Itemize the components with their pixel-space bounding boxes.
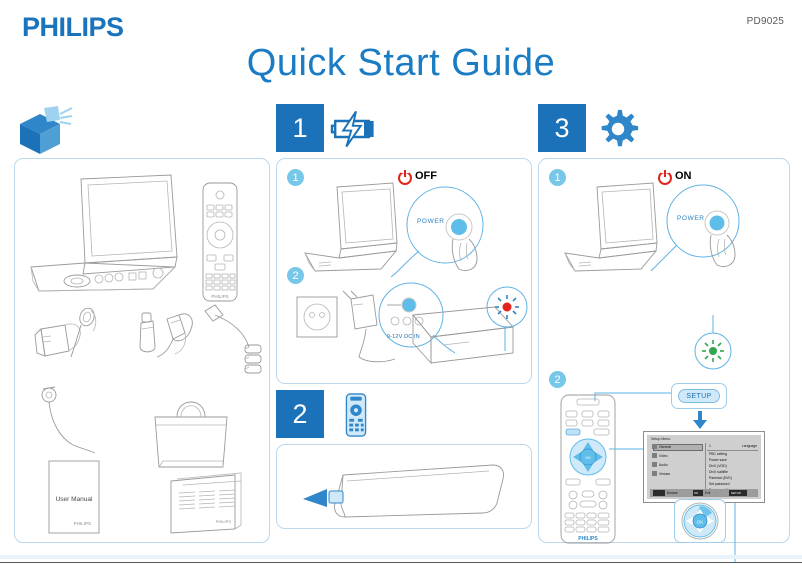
user-manual-label: User Manual [56, 496, 93, 503]
menu-option-divx-subtitle[interactable]: DivX subtitle [709, 470, 728, 474]
menu-icons [652, 444, 659, 484]
power-button-callout-3 [649, 183, 757, 277]
gear-icon [594, 106, 642, 152]
remote-control-icon [332, 392, 380, 438]
column-step-1-2: 1 1 OFF [276, 104, 532, 529]
step-1-panel: 1 OFF [276, 158, 532, 384]
ac-adapter-illustration [31, 299, 107, 377]
step-2-number: 2 [276, 390, 324, 438]
menu-item-video[interactable]: Video [659, 454, 668, 458]
footer-rule [0, 562, 802, 563]
leaflet-illustration: PHILIPS [165, 467, 257, 543]
charging-led-indicator [483, 285, 535, 337]
ok-key-label: OK [694, 491, 698, 495]
power-button-callout-1 [389, 185, 499, 281]
menu-option-set-password[interactable]: Set password [709, 482, 730, 486]
menu-option-parental-dvd[interactable]: Parental (DVD) [709, 476, 732, 480]
substep-badge-3-2: 2 [549, 371, 566, 388]
open-box-icon [14, 104, 76, 154]
power-callout-label-1: POWER [417, 218, 445, 225]
page-title: Quick Start Guide [0, 42, 802, 85]
menu-item-audio[interactable]: Audio [659, 463, 668, 467]
menu-item-general[interactable]: General [659, 445, 671, 449]
substep-badge-1-2: 2 [287, 267, 304, 284]
menu-option-power-save[interactable]: Power save [709, 458, 727, 462]
step-2-panel [276, 444, 532, 529]
menu-divider [705, 443, 706, 489]
box-contents-header [14, 104, 270, 158]
setup-button[interactable]: SETUP [678, 389, 720, 403]
step-3-number: 3 [538, 104, 586, 152]
box-contents-panel: PHILIPS [14, 158, 270, 543]
setup-key-label: SETUP [731, 491, 741, 495]
menu-item-version[interactable]: Version [659, 472, 670, 476]
power-led-indicator [691, 329, 737, 375]
wall-socket-illustration [293, 293, 345, 343]
svg-text:PHILIPS: PHILIPS [74, 521, 91, 526]
menu-right-index: 1 [709, 444, 711, 448]
av-cable-illustration [201, 301, 281, 381]
menu-option-pbc-setting[interactable]: PBC setting [709, 452, 727, 456]
step-1-header: 1 [276, 104, 532, 158]
footer-tint [0, 555, 802, 559]
battery-charging-icon [332, 106, 380, 152]
setup-menu-screen: Setup Menu General Video Audio Version [643, 431, 765, 503]
remote-battery-tab-illustration [297, 447, 517, 529]
power-callout-label-3: POWER [677, 215, 705, 222]
column-box-contents: PHILIPS [14, 104, 270, 543]
browse-hint-label: Browse [667, 491, 678, 495]
menu-option-divx-vod[interactable]: DivX (VOD) [709, 464, 727, 468]
philips-logo: PHILIPS [22, 12, 124, 43]
browse-key-icon [653, 490, 665, 496]
step-1-number: 1 [276, 104, 324, 152]
portable-dvd-player-illustration [25, 171, 215, 291]
column-step-3: 3 1 ON [538, 104, 790, 543]
user-manual-illustration: User Manual PHILIPS [41, 457, 113, 549]
arrow-down-icon-1 [693, 411, 707, 429]
step-3-header: 3 [538, 104, 790, 158]
setup-menu-screen-inner: Setup Menu General Video Audio Version [647, 435, 761, 499]
carry-bag-illustration [143, 381, 239, 477]
setup-menu-title: Setup Menu [651, 437, 670, 441]
menu-right-language: Language [742, 444, 757, 448]
navpad-ok-label: OK [697, 520, 704, 525]
model-number: PD9025 [747, 16, 784, 27]
step-2-header: 2 [276, 390, 532, 444]
quick-start-guide-page: PHILIPS PD9025 Quick Start Guide [0, 0, 802, 573]
step-3-panel: 1 ON POW [538, 158, 790, 543]
remote-control-illustration: PHILIPS [195, 179, 247, 309]
select-hint-label: Exit [705, 491, 710, 495]
navigation-pad: OK [678, 501, 722, 541]
menu-right-rule [707, 450, 758, 451]
svg-text:PHILIPS: PHILIPS [216, 519, 232, 524]
